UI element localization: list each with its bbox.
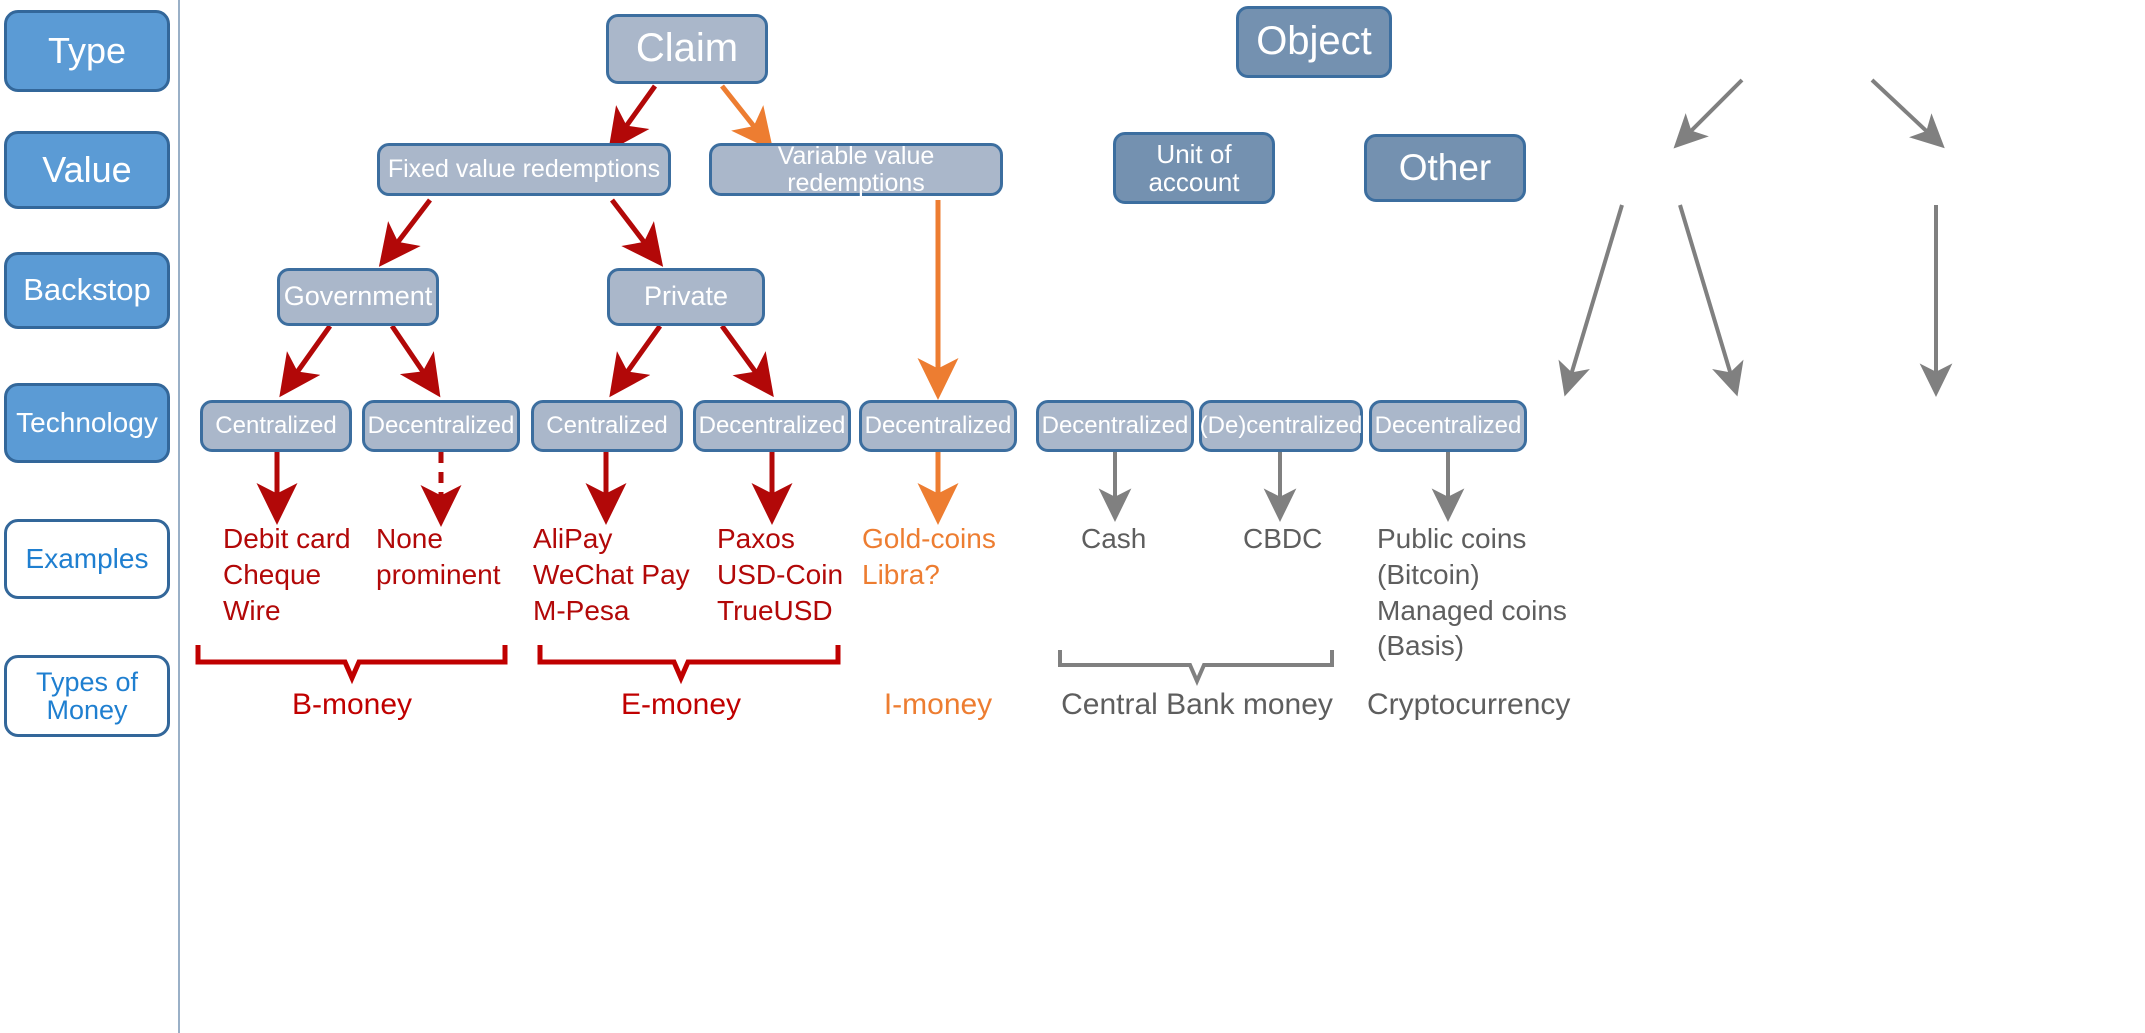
row-label-text: Backstop <box>23 274 151 307</box>
node-label: Centralized <box>546 413 667 439</box>
row-label-text: Types of Money <box>7 668 167 725</box>
example-line: Debit card <box>223 521 351 557</box>
money-type-central-bank-money: Central Bank money <box>1037 688 1357 722</box>
example-line: Cheque <box>223 557 351 593</box>
row-label-type[interactable]: Type <box>4 10 170 92</box>
money-type-i-money: I-money <box>838 688 1038 722</box>
column-divider <box>178 0 180 1033</box>
example-line: (Basis) <box>1377 628 1567 664</box>
example-line: Public coins <box>1377 521 1567 557</box>
money-type-label: Cryptocurrency <box>1367 688 1570 721</box>
node-private[interactable]: Private <box>607 268 765 326</box>
money-type-b-money: B-money <box>252 688 452 722</box>
examples-variable-decentralized: Gold-coins Libra? <box>862 521 996 593</box>
examples-unit-of-account-cash: Cash <box>1081 521 1146 557</box>
node-label: (De)centralized <box>1200 413 1363 439</box>
arrow-private-to-decentralized <box>722 326 765 385</box>
example-line: Managed coins <box>1377 593 1567 629</box>
node-tech-private-decentralized[interactable]: Decentralized <box>693 400 851 452</box>
diagram-canvas: Type Value Backstop Technology Examples … <box>0 0 2145 1033</box>
examples-gov-centralized: Debit card Cheque Wire <box>223 521 351 628</box>
node-tech-private-centralized[interactable]: Centralized <box>531 400 683 452</box>
node-government[interactable]: Government <box>277 268 439 326</box>
brace-central-bank-money <box>1060 650 1332 681</box>
node-tech-gov-decentralized[interactable]: Decentralized <box>362 400 520 452</box>
example-line: CBDC <box>1243 521 1322 557</box>
arrow-object-to-unit-of-account <box>1682 80 1742 140</box>
node-unit-of-account[interactable]: Unit of account <box>1113 132 1275 204</box>
example-line: Libra? <box>862 557 996 593</box>
node-label: Government <box>284 282 433 311</box>
row-label-examples[interactable]: Examples <box>4 519 170 599</box>
node-tech-gov-centralized[interactable]: Centralized <box>200 400 352 452</box>
example-line: prominent <box>376 557 501 593</box>
example-line: AliPay <box>533 521 690 557</box>
arrow-uoa-to-decentralized <box>1568 205 1622 385</box>
node-label: Decentralized <box>1042 413 1189 439</box>
example-line: Cash <box>1081 521 1146 557</box>
arrow-fixed-to-government <box>388 200 430 255</box>
row-label-text: Type <box>48 32 126 70</box>
example-line: Paxos <box>717 521 843 557</box>
node-label: Decentralized <box>865 413 1012 439</box>
row-label-technology[interactable]: Technology <box>4 383 170 463</box>
examples-unit-of-account-cbdc: CBDC <box>1243 521 1322 557</box>
node-tech-variable-decentralized[interactable]: Decentralized <box>859 400 1017 452</box>
example-line: (Bitcoin) <box>1377 557 1567 593</box>
money-type-label: B-money <box>292 688 412 721</box>
money-type-label: Central Bank money <box>1061 688 1333 721</box>
arrow-object-to-other <box>1872 80 1936 140</box>
node-variable-value-redemptions[interactable]: Variable value redemptions <box>709 143 1003 196</box>
node-label: Private <box>644 282 728 311</box>
money-type-cryptocurrency: Cryptocurrency <box>1367 688 1627 722</box>
money-type-label: I-money <box>884 688 992 721</box>
arrow-private-to-centralized <box>618 326 660 385</box>
node-fixed-value-redemptions[interactable]: Fixed value redemptions <box>377 143 671 196</box>
arrow-claim-to-variable <box>722 86 764 139</box>
money-type-e-money: E-money <box>581 688 781 722</box>
arrow-government-to-centralized <box>288 326 330 385</box>
example-line: WeChat Pay <box>533 557 690 593</box>
node-label: Fixed value redemptions <box>388 156 660 183</box>
example-line: Wire <box>223 593 351 629</box>
node-tech-other-decentralized[interactable]: Decentralized <box>1369 400 1527 452</box>
row-label-text: Examples <box>26 544 149 573</box>
node-label: Variable value redemptions <box>718 143 994 197</box>
node-tech-uoa-decentralized-2[interactable]: (De)centralized <box>1199 400 1363 452</box>
node-label: Other <box>1399 148 1492 188</box>
node-label: Decentralized <box>699 413 846 439</box>
example-line: M-Pesa <box>533 593 690 629</box>
node-label: Object <box>1256 20 1372 63</box>
node-other[interactable]: Other <box>1364 134 1526 202</box>
arrow-claim-to-fixed <box>617 86 655 139</box>
node-label: Centralized <box>215 413 336 439</box>
examples-private-decentralized: Paxos USD-Coin TrueUSD <box>717 521 843 628</box>
node-tech-uoa-decentralized[interactable]: Decentralized <box>1036 400 1194 452</box>
arrow-government-to-decentralized <box>392 326 432 385</box>
node-label: Decentralized <box>368 413 515 439</box>
node-label: Decentralized <box>1375 413 1522 439</box>
node-label: Claim <box>636 27 738 70</box>
brace-b-money <box>198 645 505 678</box>
row-label-value[interactable]: Value <box>4 131 170 209</box>
examples-other-decentralized: Public coins (Bitcoin) Managed coins (Ba… <box>1377 521 1567 664</box>
node-label: Unit of account <box>1122 140 1266 196</box>
examples-private-centralized: AliPay WeChat Pay M-Pesa <box>533 521 690 628</box>
row-label-text: Value <box>42 151 131 189</box>
arrow-uoa-to-decentralized-2 <box>1680 205 1734 385</box>
connector-layer <box>0 0 2145 1033</box>
example-line: TrueUSD <box>717 593 843 629</box>
example-line: USD-Coin <box>717 557 843 593</box>
node-object[interactable]: Object <box>1236 6 1392 78</box>
row-label-backstop[interactable]: Backstop <box>4 252 170 329</box>
brace-e-money <box>540 645 838 678</box>
row-label-text: Technology <box>16 408 158 437</box>
example-line: Gold-coins <box>862 521 996 557</box>
arrow-fixed-to-private <box>612 200 654 255</box>
example-line: None <box>376 521 501 557</box>
money-type-label: E-money <box>621 688 741 721</box>
row-label-types-of-money[interactable]: Types of Money <box>4 655 170 737</box>
node-claim[interactable]: Claim <box>606 14 768 84</box>
examples-gov-decentralized: None prominent <box>376 521 501 593</box>
